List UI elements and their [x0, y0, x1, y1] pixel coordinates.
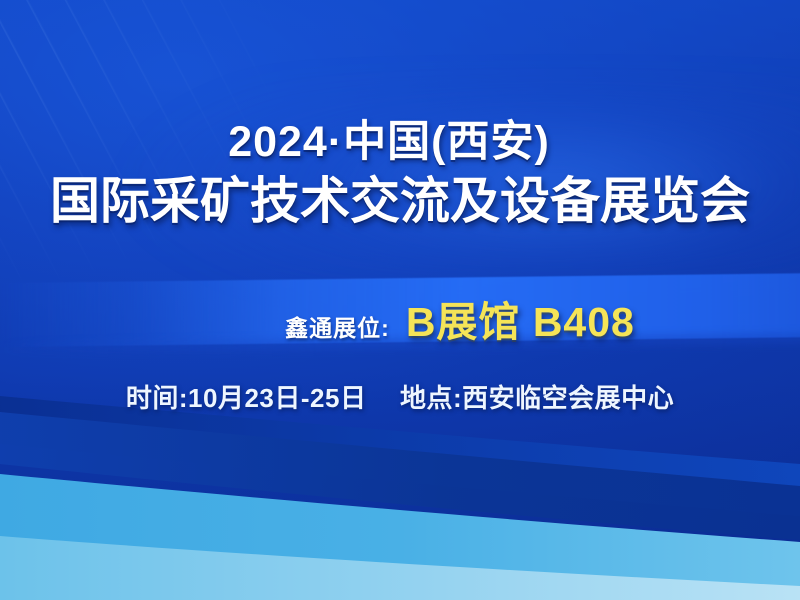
booth-row: 鑫通展位: B展馆 B408	[0, 288, 800, 348]
event-title-line-2: 国际采矿技术交流及设备展览会	[0, 172, 800, 231]
event-title-line-1: 2024·中国(西安)	[0, 118, 800, 166]
event-date: 时间:10月23日-25日	[126, 383, 367, 413]
exhibition-banner: 2024·中国(西安) 国际采矿技术交流及设备展览会 鑫通展位: B展馆 B40…	[0, 0, 800, 600]
event-info-row: 时间:10月23日-25日 地点:西安临空会展中心	[0, 378, 800, 415]
event-venue: 地点:西安临空会展中心	[400, 383, 674, 413]
banner-content: 2024·中国(西安) 国际采矿技术交流及设备展览会 鑫通展位: B展馆 B40…	[0, 0, 800, 600]
booth-number: B展馆 B408	[406, 288, 635, 348]
event-title: 2024·中国(西安) 国际采矿技术交流及设备展览会	[0, 118, 800, 231]
booth-label: 鑫通展位:	[285, 309, 390, 343]
